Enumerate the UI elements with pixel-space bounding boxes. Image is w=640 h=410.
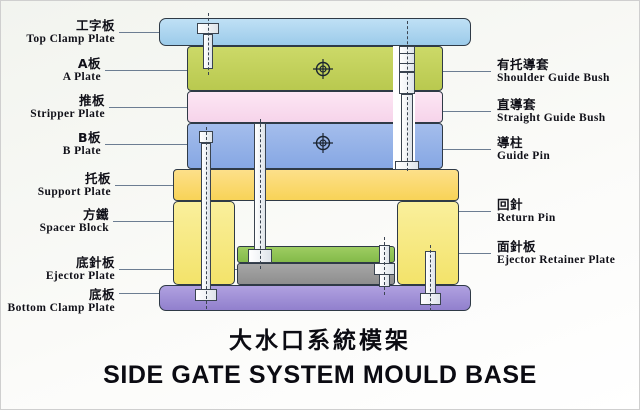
label-shoulder-guide-bush-en: Shoulder Guide Bush [497,72,610,85]
label-a-plate-en: A Plate [63,71,101,84]
label-top-clamp-plate-en: Top Clamp Plate [26,33,115,46]
label-shoulder-guide-bush: 有托導套 Shoulder Guide Bush [497,58,610,85]
label-bottom-clamp-plate-cn: 底板 [8,288,116,302]
label-return-pin: 回針 Return Pin [497,198,556,225]
label-bottom-clamp-plate-en: Bottom Clamp Plate [8,302,116,315]
centerline-top-screw [208,13,209,75]
label-ejector-plate: 底針板 Ejector Plate [46,256,115,283]
label-a-plate-cn: A板 [63,57,101,71]
label-support-plate-en: Support Plate [38,186,111,199]
centerline-guide-pin [407,21,408,171]
label-bottom-clamp-plate: 底板 Bottom Clamp Plate [8,288,116,315]
label-ejector-retainer-plate: 面針板 Ejector Retainer Plate [497,240,615,267]
label-guide-pin-en: Guide Pin [497,150,550,163]
label-spacer-block-en: Spacer Block [40,222,109,235]
title-chinese: 大水口系統模架 [1,321,639,355]
datum-crosshair-b-plate [313,133,333,153]
title-english: SIDE GATE SYSTEM MOULD BASE [1,361,639,390]
label-ejector-retainer-plate-cn: 面針板 [497,240,615,254]
mould-base-diagram: 工字板 Top Clamp Plate A板 A Plate 推板 Stripp… [0,0,640,410]
label-b-plate: B板 B Plate [63,131,101,158]
label-top-clamp-plate-cn: 工字板 [26,19,115,33]
label-return-pin-cn: 回針 [497,198,556,212]
label-a-plate: A板 A Plate [63,57,101,84]
centerline-bottom-screw [430,245,431,311]
label-top-clamp-plate: 工字板 Top Clamp Plate [26,19,115,46]
label-return-pin-en: Return Pin [497,212,556,225]
label-b-plate-en: B Plate [63,145,101,158]
label-ejector-plate-en: Ejector Plate [46,270,115,283]
label-straight-guide-bush-en: Straight Guide Bush [497,112,606,125]
label-stripper-plate-en: Stripper Plate [30,108,105,121]
label-spacer-block-cn: 方鐵 [40,208,109,222]
label-ejector-retainer-plate-en: Ejector Retainer Plate [497,254,615,267]
label-spacer-block: 方鐵 Spacer Block [40,208,109,235]
centerline-return-pin [384,237,385,295]
centerline-ejector-rod [260,119,261,269]
label-support-plate: 托板 Support Plate [38,172,111,199]
label-ejector-plate-cn: 底針板 [46,256,115,270]
label-stripper-plate-cn: 推板 [30,94,105,108]
datum-crosshair-a-plate [313,59,333,79]
centerline-mid-screw [206,127,207,309]
label-guide-pin-cn: 導柱 [497,136,550,150]
label-support-plate-cn: 托板 [38,172,111,186]
label-guide-pin: 導柱 Guide Pin [497,136,550,163]
part-support-plate [173,169,459,201]
label-straight-guide-bush: 直導套 Straight Guide Bush [497,98,606,125]
title-block: 大水口系統模架 SIDE GATE SYSTEM MOULD BASE [1,321,639,390]
label-b-plate-cn: B板 [63,131,101,145]
label-shoulder-guide-bush-cn: 有托導套 [497,58,610,72]
label-straight-guide-bush-cn: 直導套 [497,98,606,112]
label-stripper-plate: 推板 Stripper Plate [30,94,105,121]
